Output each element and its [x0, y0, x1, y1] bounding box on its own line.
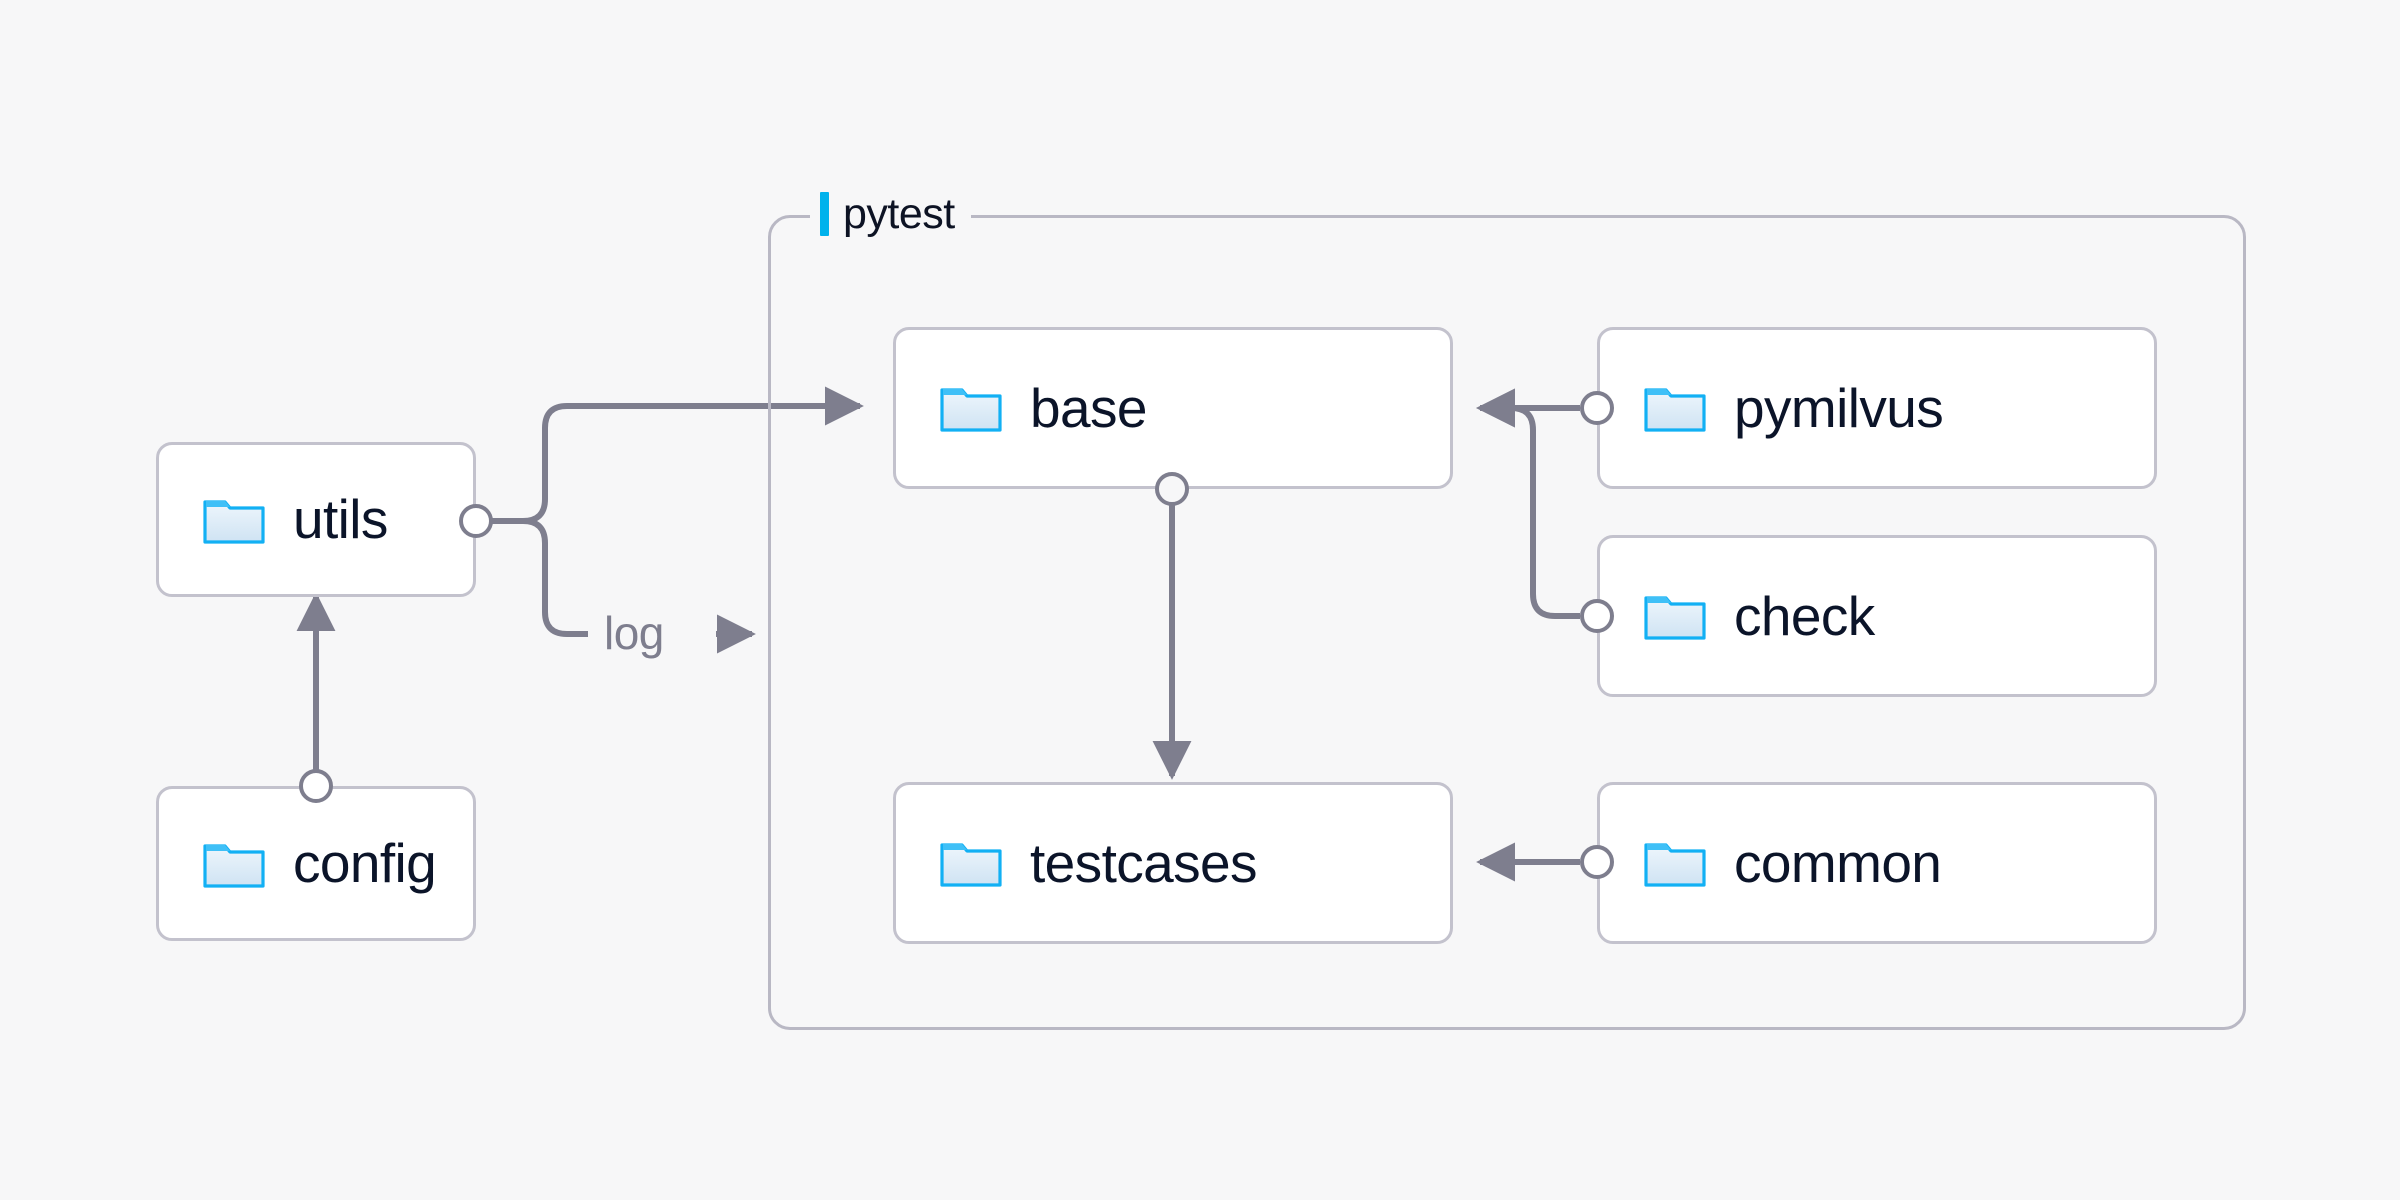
folder-icon: [940, 382, 1002, 434]
folder-icon: [1644, 590, 1706, 642]
port-base-bottom[interactable]: [1155, 472, 1189, 506]
node-config[interactable]: config: [156, 786, 476, 941]
port-pymilvus-left[interactable]: [1580, 391, 1614, 425]
folder-icon: [1644, 382, 1706, 434]
node-common-label: common: [1734, 836, 1941, 891]
node-common[interactable]: common: [1597, 782, 2157, 944]
port-utils-right[interactable]: [459, 504, 493, 538]
node-check[interactable]: check: [1597, 535, 2157, 697]
folder-icon: [203, 494, 265, 546]
diagram-canvas: pytest utils config log base: [0, 0, 2400, 1200]
port-config-top[interactable]: [299, 769, 333, 803]
node-base-label: base: [1030, 381, 1147, 436]
group-pytest-title: pytest: [843, 193, 955, 236]
port-check-left[interactable]: [1580, 599, 1614, 633]
node-testcases[interactable]: testcases: [893, 782, 1453, 944]
node-pymilvus[interactable]: pymilvus: [1597, 327, 2157, 489]
accent-bar-icon: [820, 192, 829, 236]
group-pytest-label: pytest: [810, 186, 971, 242]
folder-icon: [203, 838, 265, 890]
node-config-label: config: [293, 836, 436, 891]
node-base[interactable]: base: [893, 327, 1453, 489]
node-utils-label: utils: [293, 492, 388, 547]
node-utils[interactable]: utils: [156, 442, 476, 597]
node-pymilvus-label: pymilvus: [1734, 381, 1943, 436]
node-testcases-label: testcases: [1030, 836, 1257, 891]
node-check-label: check: [1734, 589, 1875, 644]
edge-utils-log: [492, 521, 588, 634]
edge-label-log: log: [604, 610, 664, 656]
port-common-left[interactable]: [1580, 845, 1614, 879]
folder-icon: [940, 837, 1002, 889]
folder-icon: [1644, 837, 1706, 889]
